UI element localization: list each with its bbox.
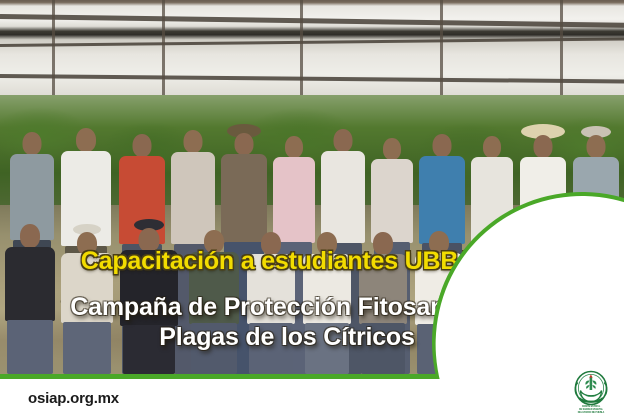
person-head: [483, 136, 501, 158]
person-head: [20, 224, 40, 248]
person-head: [433, 134, 452, 157]
person-head: [285, 136, 303, 158]
website-url[interactable]: osiap.org.mx: [28, 390, 119, 407]
person-head: [334, 129, 353, 152]
footer-bar: osiap.org.mx: [0, 379, 624, 419]
roof-post: [560, 0, 563, 108]
person-head: [534, 135, 553, 158]
person-head: [23, 132, 42, 155]
person-head: [587, 135, 606, 158]
logo-caption: COMITÉ ESTATAL DE SANIDAD VEGETAL DEL ES…: [570, 406, 612, 415]
person-head: [383, 138, 401, 160]
organization-logo: COMITÉ ESTATAL DE SANIDAD VEGETAL DEL ES…: [570, 369, 612, 415]
person-head: [76, 128, 96, 152]
poster-root: Capacitación a estudiantes UBBJG Campaña…: [0, 0, 624, 419]
logo-caption-line-3: DEL ESTADO DE PUEBLA: [570, 412, 612, 415]
person-head: [133, 134, 152, 157]
person-head: [235, 133, 254, 155]
person-head: [184, 130, 203, 153]
roof-post: [52, 0, 55, 110]
